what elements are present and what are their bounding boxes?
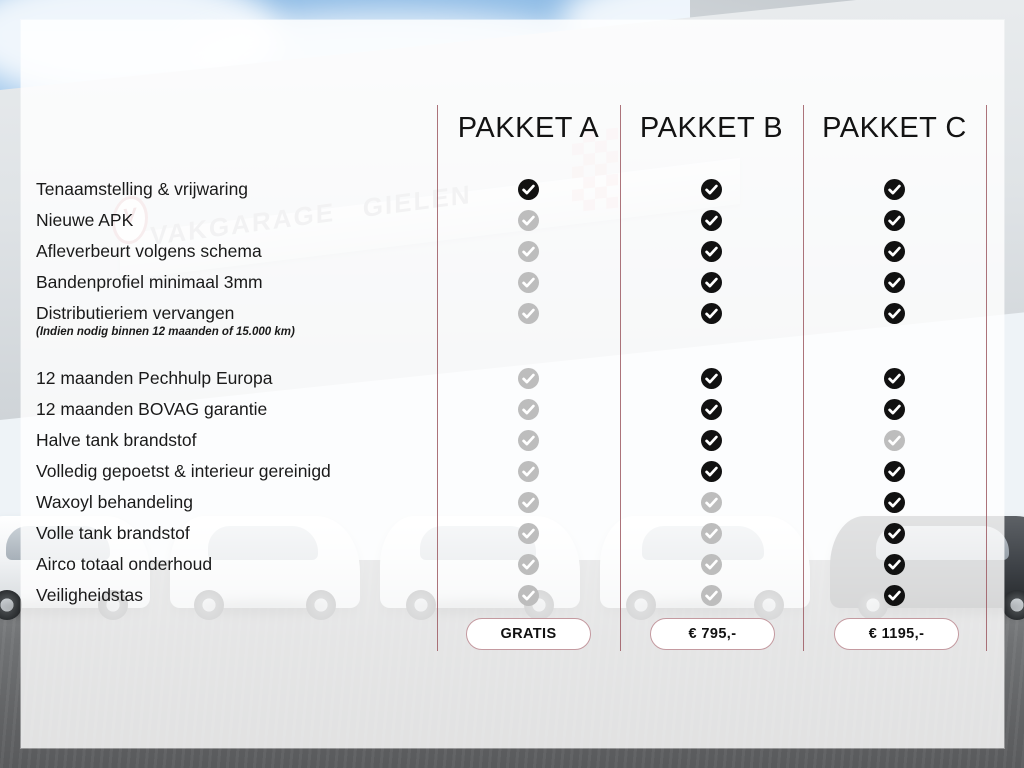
feature-label: 12 maanden BOVAG garantie <box>36 394 426 425</box>
check-icon-active <box>884 585 905 606</box>
check-icon-active <box>884 303 905 324</box>
check-icon-inactive <box>701 492 722 513</box>
price-badge-c[interactable]: € 1195,- <box>834 618 959 650</box>
feature-label: 12 maanden Pechhulp Europa <box>36 363 426 394</box>
column-divider <box>986 105 987 651</box>
check-cell <box>437 425 620 456</box>
check-icon-inactive <box>518 430 539 451</box>
check-icon-active <box>701 272 722 293</box>
note-spacer <box>437 325 620 341</box>
check-cell <box>803 456 986 487</box>
check-cell <box>620 425 803 456</box>
feature-label: Halve tank brandstof <box>36 425 426 456</box>
check-icon-active <box>701 461 722 482</box>
check-icon-inactive <box>518 368 539 389</box>
check-cell <box>803 487 986 518</box>
check-cell <box>437 456 620 487</box>
package-header-c: PAKKET C <box>803 112 986 145</box>
check-icon-active <box>884 461 905 482</box>
check-cell <box>620 580 803 611</box>
feature-label: Waxoyl behandeling <box>36 487 426 518</box>
package-column-b <box>620 174 803 611</box>
check-cell <box>437 549 620 580</box>
check-cell <box>437 487 620 518</box>
group-spacer <box>620 341 803 363</box>
check-cell <box>620 549 803 580</box>
check-cell <box>620 174 803 205</box>
check-icon-inactive <box>518 303 539 324</box>
feature-label: Afleverbeurt volgens schema <box>36 236 426 267</box>
check-cell <box>437 580 620 611</box>
check-icon-active <box>701 179 722 200</box>
check-icon-inactive <box>518 399 539 420</box>
check-cell <box>620 487 803 518</box>
check-cell <box>620 456 803 487</box>
check-icon-inactive <box>884 430 905 451</box>
package-column-a <box>437 174 620 611</box>
note-spacer <box>803 325 986 341</box>
check-cell <box>803 267 986 298</box>
check-icon-active <box>884 210 905 231</box>
price-badge-a[interactable]: GRATIS <box>466 618 591 650</box>
feature-label: Volle tank brandstof <box>36 518 426 549</box>
check-cell <box>620 518 803 549</box>
package-header-a: PAKKET A <box>437 112 620 145</box>
check-icon-active <box>884 554 905 575</box>
check-cell <box>803 425 986 456</box>
check-icon-active <box>884 241 905 262</box>
check-cell <box>803 518 986 549</box>
check-icon-active <box>884 523 905 544</box>
check-cell <box>620 394 803 425</box>
check-icon-inactive <box>518 241 539 262</box>
check-cell <box>803 174 986 205</box>
check-icon-active <box>884 492 905 513</box>
check-cell <box>803 236 986 267</box>
feature-note: (Indien nodig binnen 12 maanden of 15.00… <box>36 325 426 341</box>
group-spacer <box>803 341 986 363</box>
check-icon-active <box>701 210 722 231</box>
check-icon-inactive <box>701 523 722 544</box>
package-comparison-table: PAKKET A PAKKET B PAKKET C Tenaamstellin… <box>0 0 1024 768</box>
note-spacer <box>620 325 803 341</box>
feature-label: Bandenprofiel minimaal 3mm <box>36 267 426 298</box>
check-icon-active <box>518 179 539 200</box>
check-icon-inactive <box>701 554 722 575</box>
check-cell <box>437 518 620 549</box>
check-icon-active <box>701 368 722 389</box>
check-icon-inactive <box>518 554 539 575</box>
feature-label: Tenaamstelling & vrijwaring <box>36 174 426 205</box>
feature-label: Airco totaal onderhoud <box>36 549 426 580</box>
check-cell <box>803 363 986 394</box>
package-column-c <box>803 174 986 611</box>
check-icon-active <box>701 303 722 324</box>
check-cell <box>620 363 803 394</box>
check-cell <box>620 236 803 267</box>
check-icon-inactive <box>518 523 539 544</box>
check-icon-active <box>884 399 905 420</box>
check-icon-inactive <box>701 585 722 606</box>
check-cell <box>437 394 620 425</box>
check-cell <box>620 205 803 236</box>
check-cell <box>803 205 986 236</box>
group-spacer <box>437 341 620 363</box>
check-icon-inactive <box>518 492 539 513</box>
check-cell <box>437 174 620 205</box>
price-badge-b[interactable]: € 795,- <box>650 618 775 650</box>
screen: VAKGARAGE GIELEN PAKKET A PAKKET B PAKKE… <box>0 0 1024 768</box>
check-icon-active <box>884 368 905 389</box>
check-icon-inactive <box>518 461 539 482</box>
check-cell <box>437 236 620 267</box>
feature-label-list: Tenaamstelling & vrijwaring Nieuwe APK A… <box>36 174 426 611</box>
check-cell <box>437 363 620 394</box>
check-cell <box>803 549 986 580</box>
check-icon-inactive <box>518 210 539 231</box>
check-cell <box>437 267 620 298</box>
check-cell <box>620 267 803 298</box>
check-icon-inactive <box>518 272 539 293</box>
check-icon-active <box>884 272 905 293</box>
check-icon-inactive <box>518 585 539 606</box>
feature-label: Nieuwe APK <box>36 205 426 236</box>
check-icon-active <box>701 399 722 420</box>
check-cell <box>803 394 986 425</box>
check-cell <box>437 205 620 236</box>
package-header-b: PAKKET B <box>620 112 803 145</box>
check-icon-active <box>701 430 722 451</box>
group-separator <box>36 341 426 363</box>
check-cell <box>803 580 986 611</box>
feature-label: Volledig gepoetst & interieur gereinigd <box>36 456 426 487</box>
check-icon-active <box>701 241 722 262</box>
feature-label: Veiligheidstas <box>36 580 426 611</box>
check-icon-active <box>884 179 905 200</box>
